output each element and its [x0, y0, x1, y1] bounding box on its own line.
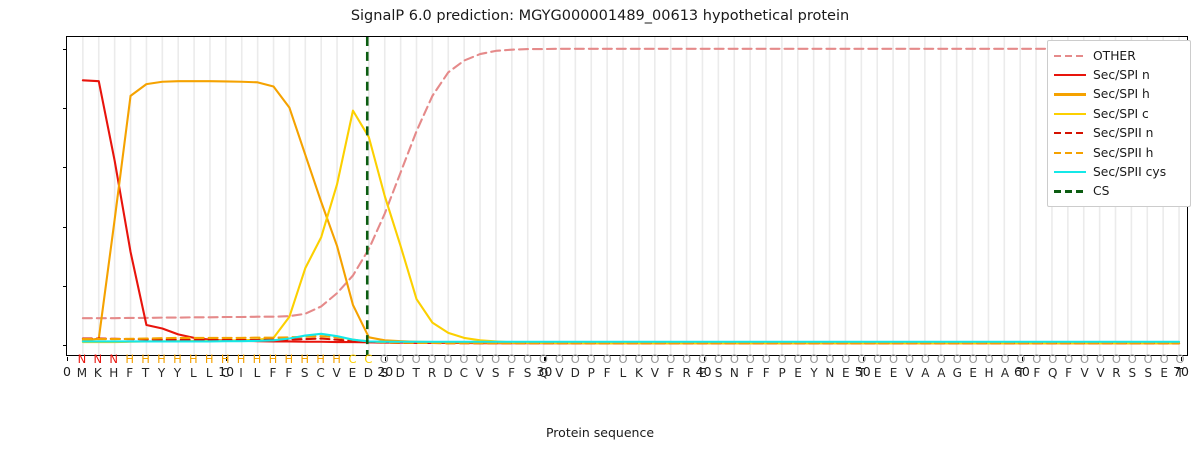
residue-letter: D: [396, 366, 405, 380]
legend-item[interactable]: Sec/SPII cys: [1054, 162, 1184, 181]
residue-letter: V: [651, 366, 659, 380]
region-marker: O: [443, 352, 452, 366]
region-marker: O: [650, 352, 659, 366]
x-axis-label: Protein sequence: [0, 425, 1200, 440]
residue-letter: F: [667, 366, 674, 380]
residue-letter: V: [555, 366, 563, 380]
series-line: [83, 111, 1179, 344]
region-marker: H: [253, 352, 262, 366]
region-marker: O: [778, 352, 787, 366]
signalp-prediction-figure: SignalP 6.0 prediction: MGYG000001489_00…: [0, 0, 1200, 450]
residue-letter: Y: [158, 366, 165, 380]
region-marker: O: [889, 352, 898, 366]
residue-letter: K: [635, 366, 643, 380]
residue-letter: V: [1080, 366, 1088, 380]
residue-letter: L: [620, 366, 627, 380]
region-marker: H: [237, 352, 246, 366]
residue-letter: E: [969, 366, 977, 380]
region-marker: N: [78, 352, 87, 366]
region-marker: O: [666, 352, 675, 366]
legend-label: Sec/SPI h: [1093, 87, 1150, 101]
region-marker: O: [1144, 352, 1153, 366]
residue-letter: M: [77, 366, 87, 380]
region-marker: H: [221, 352, 230, 366]
y-tick-mark: [63, 227, 67, 228]
residue-letter: Q: [1048, 366, 1057, 380]
residue-letter: F: [1033, 366, 1040, 380]
region-marker: H: [157, 352, 166, 366]
region-marker: O: [571, 352, 580, 366]
residue-letter: V: [332, 366, 340, 380]
legend-item[interactable]: CS: [1054, 182, 1184, 201]
residue-letter: N: [825, 366, 834, 380]
legend-swatch: [1054, 127, 1086, 139]
region-marker: O: [873, 352, 882, 366]
page-title: SignalP 6.0 prediction: MGYG000001489_00…: [0, 8, 1200, 24]
region-marker: O: [953, 352, 962, 366]
residue-letter: F: [269, 366, 276, 380]
sequence-region-annotations: NNNHHHHHHHHHHHHHHCCOOOOOOOOOOOOOOOOOOOOO…: [66, 352, 1188, 367]
residue-letter: V: [1096, 366, 1104, 380]
y-tick-mark: [63, 49, 67, 50]
legend-label: OTHER: [1093, 49, 1136, 63]
data-layer: [67, 37, 1187, 355]
residue-letter: A: [1001, 366, 1009, 380]
residue-letter: D: [443, 366, 452, 380]
residue-letter: N: [730, 366, 739, 380]
residue-letter: L: [206, 366, 213, 380]
y-tick-mark: [63, 108, 67, 109]
region-marker: O: [905, 352, 914, 366]
residue-letter: G: [953, 366, 962, 380]
region-marker: N: [109, 352, 118, 366]
region-marker: O: [1080, 352, 1089, 366]
residue-letter: R: [1112, 366, 1120, 380]
region-marker: O: [969, 352, 978, 366]
region-marker: C: [364, 352, 372, 366]
residue-letter: P: [779, 366, 786, 380]
residue-letter: S: [524, 366, 532, 380]
residue-letter: F: [1065, 366, 1072, 380]
region-marker: O: [618, 352, 627, 366]
legend-item[interactable]: Sec/SPI n: [1054, 65, 1184, 84]
region-marker: O: [603, 352, 612, 366]
legend-swatch: [1054, 108, 1086, 120]
residue-letter: H: [109, 366, 118, 380]
region-marker: O: [539, 352, 548, 366]
series-line: [83, 334, 1179, 342]
region-marker: O: [459, 352, 468, 366]
legend-swatch: [1054, 69, 1086, 81]
residue-letter: A: [921, 366, 929, 380]
residue-letter: T: [858, 366, 865, 380]
region-marker: N: [94, 352, 103, 366]
residue-letter: S: [1144, 366, 1152, 380]
region-marker: O: [746, 352, 755, 366]
residue-letter: V: [905, 366, 913, 380]
y-tick-mark: [63, 286, 67, 287]
residue-letter: T: [142, 366, 149, 380]
region-marker: O: [841, 352, 850, 366]
region-marker: H: [300, 352, 309, 366]
residue-letter: F: [763, 366, 770, 380]
region-marker: H: [125, 352, 134, 366]
region-marker: O: [937, 352, 946, 366]
region-marker: H: [173, 352, 182, 366]
region-marker: O: [1128, 352, 1137, 366]
region-marker: O: [428, 352, 437, 366]
residue-letter: T: [1176, 366, 1183, 380]
region-marker: O: [523, 352, 532, 366]
residue-letter: F: [747, 366, 754, 380]
region-marker: O: [555, 352, 564, 366]
region-marker: O: [825, 352, 834, 366]
residue-letter: S: [301, 366, 309, 380]
region-marker: O: [682, 352, 691, 366]
legend-label: Sec/SPI c: [1093, 107, 1149, 121]
region-marker: H: [189, 352, 198, 366]
residue-letter: F: [285, 366, 292, 380]
residue-letter: R: [428, 366, 436, 380]
residue-letter: I: [239, 366, 243, 380]
region-marker: O: [809, 352, 818, 366]
legend-label: Sec/SPI n: [1093, 68, 1150, 82]
region-marker: O: [380, 352, 389, 366]
region-marker: H: [284, 352, 293, 366]
region-marker: O: [698, 352, 707, 366]
residue-letter: E: [699, 366, 707, 380]
residue-letter: Q: [539, 366, 548, 380]
region-marker: O: [396, 352, 405, 366]
region-marker: O: [1000, 352, 1009, 366]
legend-item[interactable]: Sec/SPI c: [1054, 104, 1184, 123]
region-marker: H: [332, 352, 341, 366]
residue-letter: S: [380, 366, 388, 380]
series-line: [83, 81, 1179, 343]
residue-letter: V: [476, 366, 484, 380]
region-marker: C: [348, 352, 356, 366]
residue-letter: R: [683, 366, 691, 380]
residue-letter: C: [316, 366, 324, 380]
residue-letter: E: [874, 366, 882, 380]
region-marker: O: [1032, 352, 1041, 366]
residue-letter: F: [604, 366, 611, 380]
legend-swatch: [1054, 166, 1086, 178]
residue-letter: T: [412, 366, 419, 380]
legend-swatch: [1054, 88, 1086, 100]
legend-swatch: [1054, 185, 1086, 197]
region-marker: O: [587, 352, 596, 366]
residue-letter: F: [126, 366, 133, 380]
residue-letter: E: [890, 366, 898, 380]
legend-swatch: [1054, 50, 1086, 62]
residue-letter: K: [94, 366, 102, 380]
region-marker: O: [1160, 352, 1169, 366]
residue-letter: S: [1128, 366, 1136, 380]
region-marker: O: [762, 352, 771, 366]
residue-letter: E: [794, 366, 802, 380]
residue-letter: T: [1017, 366, 1024, 380]
series-line: [83, 80, 1179, 343]
region-marker: O: [714, 352, 723, 366]
residue-letter: E: [349, 366, 357, 380]
region-marker: O: [1176, 352, 1185, 366]
residue-letter: Y: [174, 366, 181, 380]
region-marker: O: [491, 352, 500, 366]
region-marker: O: [507, 352, 516, 366]
region-marker: O: [921, 352, 930, 366]
series-line: [83, 49, 1179, 318]
legend-label: CS: [1093, 184, 1109, 198]
legend-label: Sec/SPII n: [1093, 126, 1153, 140]
sequence-residue-letters: MKHFTYYLLCILFFSCVEDSDTRDCVSFSQVDPFLKVFRE…: [66, 366, 1188, 383]
legend-item[interactable]: Sec/SPI h: [1054, 85, 1184, 104]
residue-letter: H: [985, 366, 994, 380]
legend-item[interactable]: OTHER: [1054, 46, 1184, 65]
residue-letter: E: [842, 366, 850, 380]
residue-letter: E: [1160, 366, 1168, 380]
residue-letter: S: [715, 366, 723, 380]
region-marker: O: [634, 352, 643, 366]
region-marker: O: [794, 352, 803, 366]
region-marker: O: [1112, 352, 1121, 366]
region-marker: H: [269, 352, 278, 366]
legend-item[interactable]: Sec/SPII n: [1054, 124, 1184, 143]
y-tick-mark: [63, 345, 67, 346]
legend-label: Sec/SPII h: [1093, 146, 1153, 160]
region-marker: O: [412, 352, 421, 366]
region-marker: O: [1016, 352, 1025, 366]
residue-letter: C: [221, 366, 229, 380]
region-marker: H: [141, 352, 150, 366]
residue-letter: D: [571, 366, 580, 380]
residue-letter: F: [508, 366, 515, 380]
region-marker: O: [730, 352, 739, 366]
region-marker: O: [1096, 352, 1105, 366]
residue-letter: L: [190, 366, 197, 380]
residue-letter: C: [460, 366, 468, 380]
y-tick-mark: [63, 167, 67, 168]
legend-item[interactable]: Sec/SPII h: [1054, 143, 1184, 162]
region-marker: O: [475, 352, 484, 366]
residue-letter: L: [254, 366, 261, 380]
region-marker: O: [1048, 352, 1057, 366]
legend: OTHERSec/SPI nSec/SPI hSec/SPI cSec/SPII…: [1047, 40, 1191, 207]
region-marker: O: [985, 352, 994, 366]
residue-letter: Y: [810, 366, 817, 380]
region-marker: O: [857, 352, 866, 366]
region-marker: O: [1064, 352, 1073, 366]
residue-letter: S: [492, 366, 500, 380]
plot-area: 0.00.20.40.60.81.0 010203040506070: [66, 36, 1188, 356]
region-marker: H: [316, 352, 325, 366]
region-marker: H: [205, 352, 214, 366]
legend-swatch: [1054, 147, 1086, 159]
residue-letter: P: [588, 366, 595, 380]
legend-label: Sec/SPII cys: [1093, 165, 1166, 179]
residue-letter: A: [937, 366, 945, 380]
residue-letter: D: [364, 366, 373, 380]
